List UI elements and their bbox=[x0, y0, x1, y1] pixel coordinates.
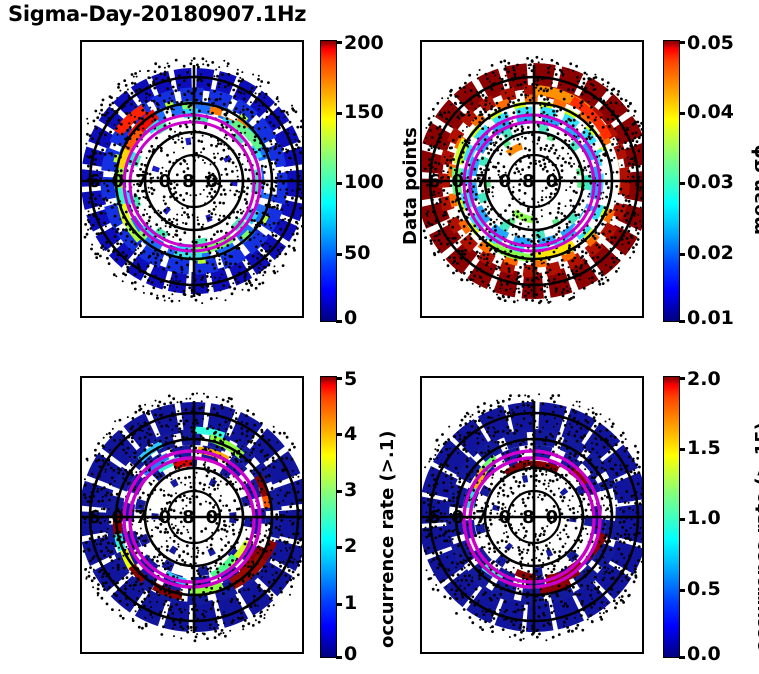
colorbar-tick bbox=[679, 656, 685, 659]
colorbar-tick bbox=[679, 589, 685, 592]
colorbar-tick-label: 3 bbox=[344, 479, 357, 501]
colorbar-tick-label: 5 bbox=[344, 368, 357, 390]
latitude-tick-labels-top-right: 607080 bbox=[428, 171, 569, 192]
figure-title: Sigma-Day-20180907.1Hz bbox=[8, 2, 306, 26]
colorbar-tick-label: 0.01 bbox=[687, 307, 734, 329]
colorbar-title-occurrence-rate-01: occurrence rate (>.1) bbox=[377, 431, 398, 648]
colorbar-tick bbox=[679, 112, 685, 115]
panel-occurrence-rate-01[interactable]: 607080 bbox=[80, 376, 304, 654]
colorbar-data-points[interactable]: 200 150 100 50 0 bbox=[320, 40, 337, 322]
colorbar-tick-label: 0.0 bbox=[687, 643, 721, 665]
colorbar-tick bbox=[336, 433, 342, 436]
colorbar-occurrence-rate-01[interactable]: 5 4 3 2 1 0 bbox=[320, 376, 337, 658]
colorbar-tick-label: 1.5 bbox=[687, 437, 721, 459]
colorbar-tick-label: 0.04 bbox=[687, 101, 734, 123]
colorbar-tick bbox=[336, 112, 342, 115]
colorbar-tick-label: 150 bbox=[344, 101, 384, 123]
colorbar-tick-label: 0.02 bbox=[687, 242, 734, 264]
colorbar-tick-label: 0.05 bbox=[687, 32, 734, 54]
colorbar-tick-label: 4 bbox=[344, 423, 357, 445]
colorbar-tick bbox=[336, 546, 342, 549]
colorbar-tick-label: 0.03 bbox=[687, 171, 734, 193]
colorbar-title-mean-sigma-phi: mean σϕ bbox=[749, 144, 759, 235]
latitude-tick-labels-bottom-right: 607080 bbox=[428, 507, 569, 528]
colorbar-gradient-data-points bbox=[321, 41, 336, 321]
colorbar-tick bbox=[336, 656, 342, 659]
latitude-tick-labels-bottom-left: 607080 bbox=[88, 507, 229, 528]
colorbar-tick bbox=[679, 41, 685, 44]
colorbar-tick bbox=[679, 320, 685, 323]
latitude-tick-labels-top-left: 607080 bbox=[88, 171, 229, 192]
colorbar-tick-label: 50 bbox=[344, 242, 370, 264]
colorbar-tick bbox=[679, 377, 685, 380]
colorbar-tick bbox=[336, 320, 342, 323]
colorbar-mean-sigma-phi[interactable]: 0.05 0.04 0.03 0.02 0.01 bbox=[663, 40, 680, 322]
colorbar-tick bbox=[679, 518, 685, 521]
colorbar-gradient-occurrence-rate-015 bbox=[664, 377, 679, 657]
polar-plot-mean-sigma-phi: 607080 bbox=[422, 42, 642, 316]
polar-plot-occurrence-rate-01: 607080 bbox=[82, 378, 302, 652]
colorbar-tick-label: 100 bbox=[344, 171, 384, 193]
colorbar-tick-label: 0.5 bbox=[687, 578, 721, 600]
polar-plot-occurrence-rate-015: 607080 bbox=[422, 378, 642, 652]
figure-canvas: Sigma-Day-20180907.1Hz bbox=[0, 0, 759, 674]
colorbar-tick bbox=[336, 377, 342, 380]
panel-mean-sigma-phi[interactable]: 607080 bbox=[420, 40, 644, 318]
colorbar-tick bbox=[336, 41, 342, 44]
colorbar-tick bbox=[336, 603, 342, 606]
colorbar-tick-label: 0 bbox=[344, 643, 357, 665]
colorbar-tick bbox=[679, 182, 685, 185]
colorbar-tick bbox=[336, 253, 342, 256]
colorbar-tick bbox=[679, 253, 685, 256]
colorbar-tick-label: 1.0 bbox=[687, 507, 721, 529]
colorbar-tick-label: 2.0 bbox=[687, 368, 721, 390]
colorbar-tick bbox=[336, 490, 342, 493]
colorbar-title-occurrence-rate-015: occurrence rate (>.15) bbox=[752, 422, 759, 652]
colorbar-gradient-mean-sigma-phi bbox=[664, 41, 679, 321]
colorbar-tick-label: 0 bbox=[344, 307, 357, 329]
polar-plot-data-points: 607080 bbox=[82, 42, 302, 316]
colorbar-gradient-occurrence-rate-01 bbox=[321, 377, 336, 657]
colorbar-tick-label: 1 bbox=[344, 592, 357, 614]
colorbar-tick bbox=[679, 448, 685, 451]
panel-data-points[interactable]: 607080 bbox=[80, 40, 304, 318]
colorbar-occurrence-rate-015[interactable]: 2.0 1.5 1.0 0.5 0.0 bbox=[663, 376, 680, 658]
colorbar-title-data-points: Data points bbox=[400, 127, 421, 245]
panel-occurrence-rate-015[interactable]: 607080 bbox=[420, 376, 644, 654]
colorbar-tick-label: 200 bbox=[344, 32, 384, 54]
colorbar-tick-label: 2 bbox=[344, 535, 357, 557]
colorbar-tick bbox=[336, 182, 342, 185]
